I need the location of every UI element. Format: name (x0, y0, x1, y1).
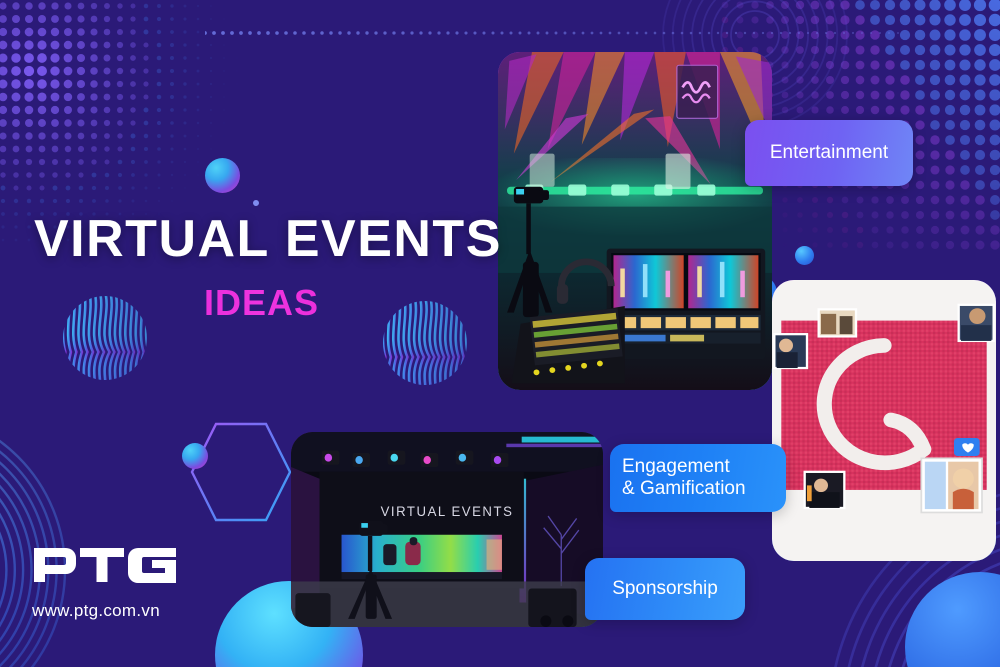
label-engagement-line1: Engagement (622, 456, 730, 477)
label-entertainment[interactable]: Entertainment (745, 120, 913, 186)
label-engagement-gamification[interactable]: Engagement & Gamification (610, 444, 786, 512)
brand-logo-block[interactable]: www.ptg.com.vn (32, 544, 178, 621)
arcs-left-icon (0, 405, 155, 667)
label-entertainment-text: Entertainment (770, 142, 888, 164)
label-sponsorship-text: Sponsorship (612, 578, 718, 600)
photo-studio-stage: VIRTUAL EVENTS (291, 432, 603, 627)
brand-url: www.ptg.com.vn (32, 601, 178, 621)
ptg-logo-icon (32, 544, 178, 586)
photo-virtual-platform (772, 280, 996, 561)
sphere-dot-top (253, 200, 259, 206)
studio-wall-text: VIRTUAL EVENTS (381, 504, 514, 519)
sphere-title-accent (205, 158, 240, 193)
dot-row-icon (205, 28, 905, 38)
photo-concert-stage (498, 52, 772, 390)
sphere-small-right (795, 246, 814, 265)
poster-subtitle: IDEAS (34, 285, 489, 321)
title-block: VIRTUAL EVENTS IDEAS (34, 213, 502, 321)
photo-card-concert-stage[interactable] (498, 52, 772, 390)
label-engagement-line2: & Gamification (622, 478, 746, 499)
poster-canvas: VIRTUAL EVENTS (0, 0, 1000, 667)
label-sponsorship[interactable]: Sponsorship (585, 558, 745, 620)
photo-card-studio-stage[interactable]: VIRTUAL EVENTS (291, 432, 603, 627)
photo-card-virtual-platform[interactable] (772, 280, 996, 561)
sphere-hexagon-vertex (182, 443, 208, 469)
label-engagement-text: Engagement & Gamification (622, 456, 746, 501)
sphere-bottom-right (905, 572, 1000, 667)
hexagon-outline-icon (186, 416, 296, 528)
poster-title: VIRTUAL EVENTS (34, 213, 502, 265)
